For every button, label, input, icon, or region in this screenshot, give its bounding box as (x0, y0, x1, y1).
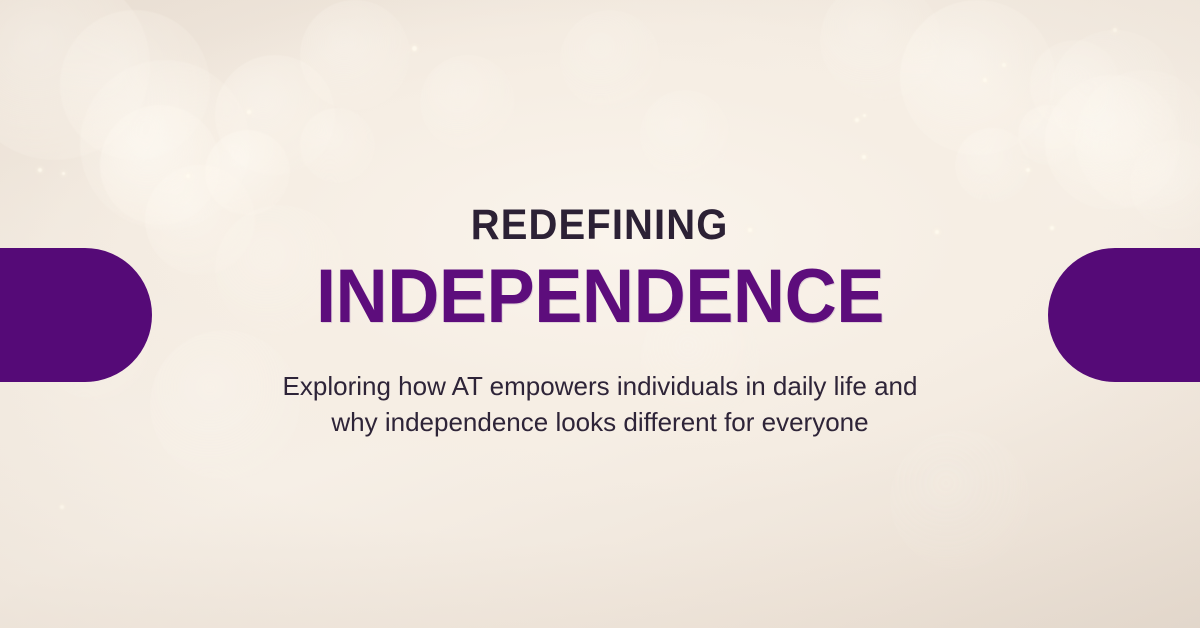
subtitle: Exploring how AT empowers individuals in… (283, 369, 918, 439)
eyebrow-text: REDEFINING (471, 204, 729, 247)
subtitle-line-1: Exploring how AT empowers individuals in… (283, 369, 918, 404)
subtitle-line-2: why independence looks different for eve… (283, 405, 918, 440)
page-title: INDEPENDENCE (316, 259, 884, 335)
banner-content: REDEFINING INDEPENDENCE Exploring how AT… (0, 0, 1200, 628)
hero-banner: REDEFINING INDEPENDENCE Exploring how AT… (0, 0, 1200, 628)
